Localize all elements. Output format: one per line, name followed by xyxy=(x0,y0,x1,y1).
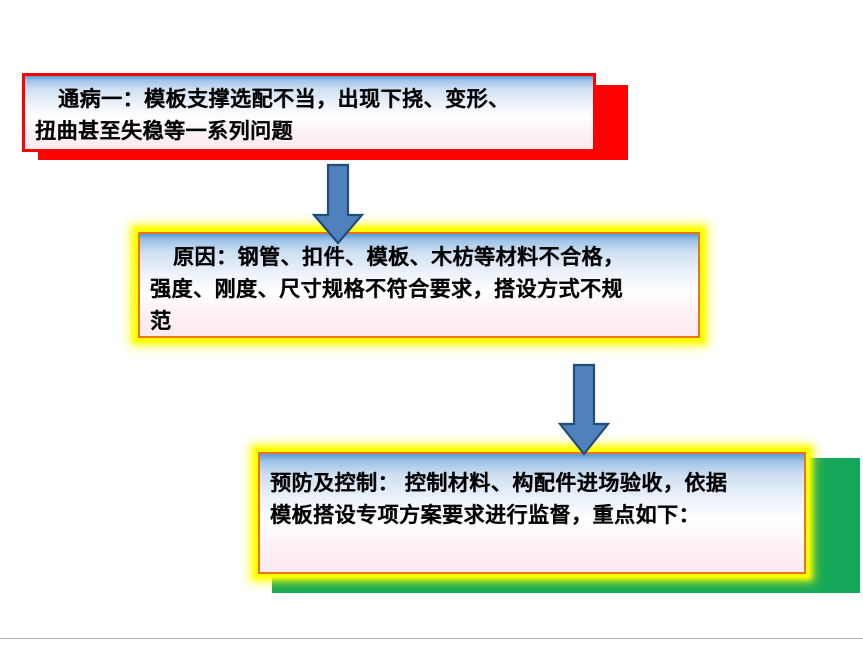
common-defect-text: 通病一：模板支撑选配不当，出现下挠、变形、 扭曲甚至失稳等一系列问题 xyxy=(25,76,593,154)
common-defect-box[interactable]: 通病一：模板支撑选配不当，出现下挠、变形、 扭曲甚至失稳等一系列问题 xyxy=(22,73,596,152)
cause-text: 原因：钢管、扣件、模板、木枋等材料不合格， 强度、刚度、尺寸规格不符合要求，搭设… xyxy=(140,234,698,344)
down-arrow-icon-problem-to-cause xyxy=(310,163,366,247)
prevention-box[interactable]: 预防及控制： 控制材料、构配件进场验收，依据 模板搭设专项方案要求进行监督，重点… xyxy=(258,452,806,574)
slide-bottom-divider xyxy=(0,638,863,639)
prevention-text: 预防及控制： 控制材料、构配件进场验收，依据 模板搭设专项方案要求进行监督，重点… xyxy=(260,454,804,538)
cause-box[interactable]: 原因：钢管、扣件、模板、木枋等材料不合格， 强度、刚度、尺寸规格不符合要求，搭设… xyxy=(138,232,700,338)
slide-canvas: 通病一：模板支撑选配不当，出现下挠、变形、 扭曲甚至失稳等一系列问题 原因：钢管… xyxy=(0,0,863,649)
down-arrow-icon-cause-to-prevention xyxy=(556,363,612,458)
